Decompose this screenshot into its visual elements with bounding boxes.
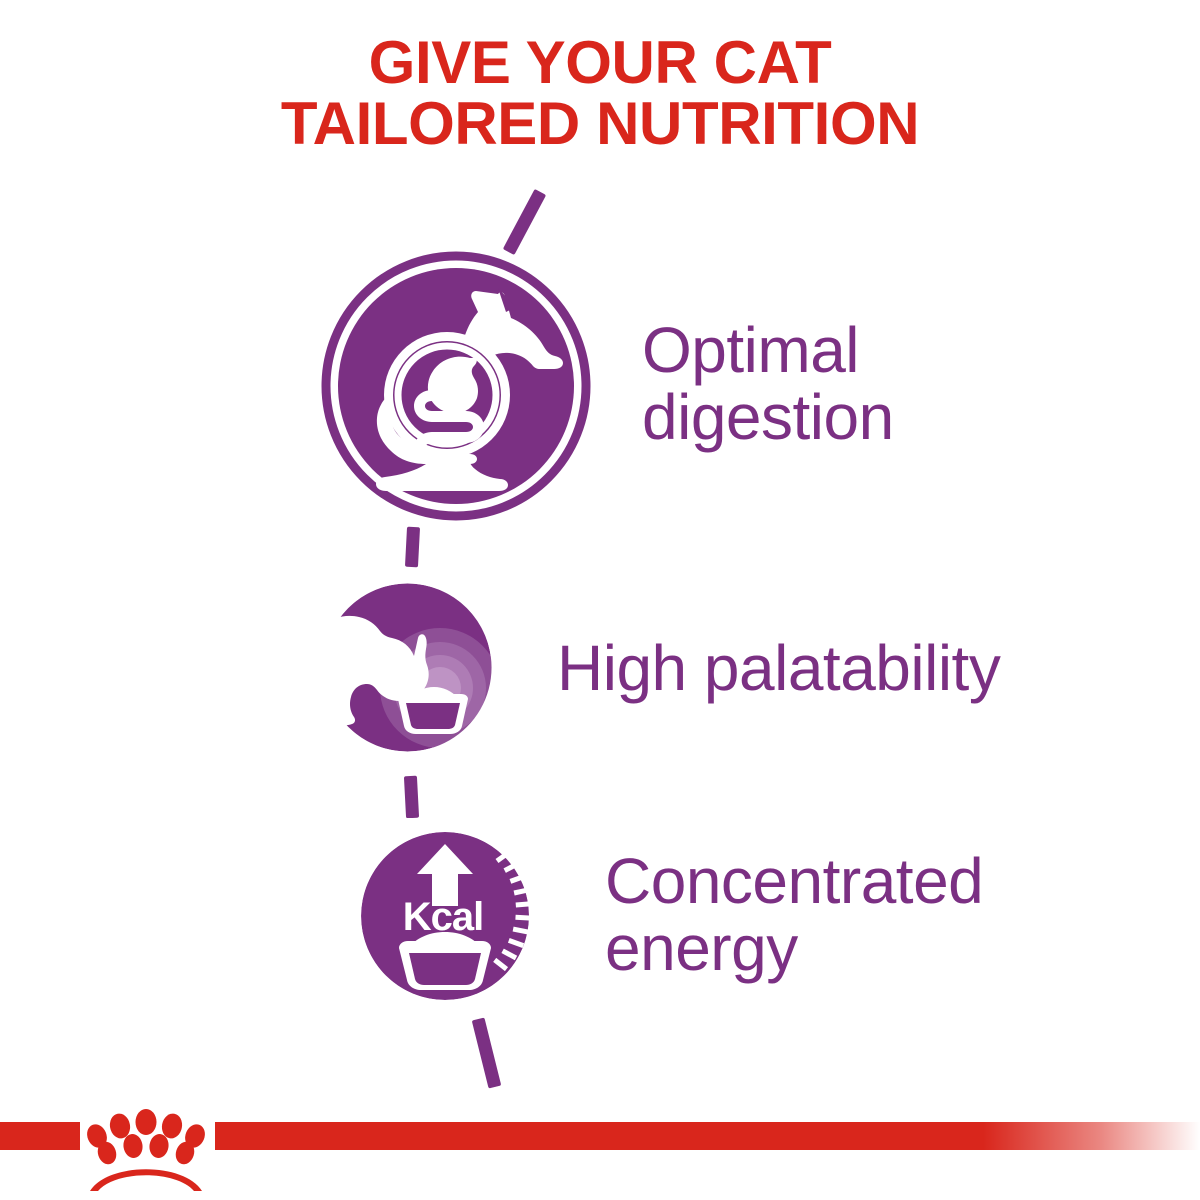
- footer: [0, 1096, 1200, 1200]
- feature-label-energy: Concentrated energy: [605, 848, 983, 981]
- footer-band-left: [0, 1122, 80, 1150]
- page-title-line-1: GIVE YOUR CAT: [0, 32, 1200, 93]
- kcal-arrow-bowl-icon: Kcal: [347, 818, 543, 1014]
- feature-item-digestion: Optimal digestion: [320, 250, 894, 522]
- connector-dash-mid-2: [404, 776, 419, 819]
- cat-digestion-icon: [320, 250, 592, 522]
- connector-dash-bottom: [472, 1017, 502, 1088]
- feature-item-energy: Kcal Concentrated energy: [347, 818, 983, 1014]
- page-title-line-2: TAILORED NUTRITION: [0, 93, 1200, 154]
- royal-canin-crown-logo: [78, 1096, 218, 1196]
- connector-dash-top: [503, 189, 546, 255]
- connector-dash-mid-1: [405, 527, 420, 568]
- poster-canvas: GIVE YOUR CAT TAILORED NUTRITION: [0, 0, 1200, 1200]
- feature-label-digestion: Optimal digestion: [642, 317, 894, 450]
- page-title: GIVE YOUR CAT TAILORED NUTRITION: [0, 32, 1200, 154]
- cat-eating-bowl-icon: [310, 570, 505, 765]
- feature-label-palatability: High palatability: [557, 635, 1000, 702]
- footer-band-right: [215, 1122, 1200, 1150]
- feature-item-palatability: High palatability: [310, 570, 1000, 765]
